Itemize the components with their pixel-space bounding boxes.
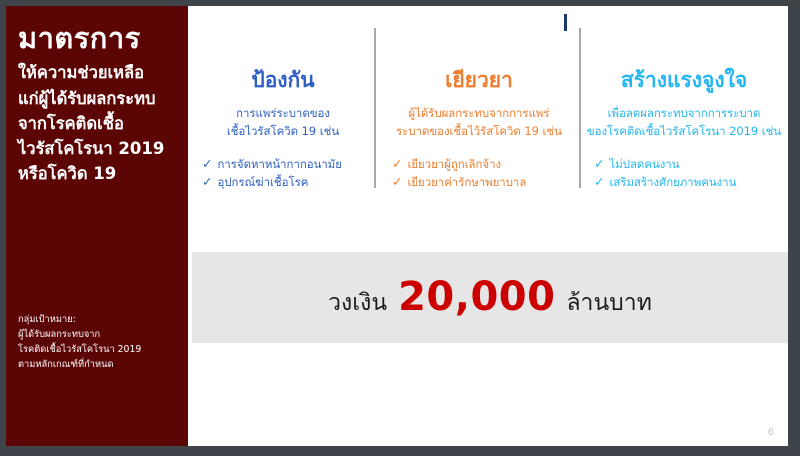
measures-columns: ป้องกัน การแพร่ระบาดของ เชื้อไวรัสโควิด … [188,58,788,253]
check-icon: ✓ [392,173,402,191]
budget-label: วงเงิน [328,285,387,321]
slide-main-title: มาตรการ [18,22,178,54]
list-item: ✓ เสริมสร้างศักยภาพคนงาน [594,173,782,191]
list-item: ✓ เยียวยาค่ารักษาพยาบาล [392,173,574,191]
subtitle-line: หรือโควิด 19 [18,161,178,186]
description-line: เชื้อไวรัสโควิด 19 เช่น [194,123,372,141]
target-group-label: กลุ่มเป้าหมาย: [18,312,141,327]
check-icon: ✓ [202,173,212,191]
description-line: ของโรคติดเชื้อไวรัสโคโรนา 2019 เช่น [586,123,782,141]
target-group-block: กลุ่มเป้าหมาย: ผู้ได้รับผลกระทบจาก โรคติ… [18,312,141,372]
subtitle-line: แก่ผู้ได้รับผลกระทบ [18,86,178,111]
budget-unit: ล้านบาท [566,285,651,321]
column-heading: ป้องกัน [194,68,372,93]
column-bullet-list: ✓ เยียวยาผู้ถูกเลิกจ้าง ✓ เยียวยาค่ารักษ… [384,155,574,192]
bullet-label: เสริมสร้างศักยภาพคนงาน [609,173,736,191]
budget-banner: วงเงิน 20,000 ล้านบาท [192,252,788,343]
column-bullet-list: ✓ ไม่ปลดคนงาน ✓ เสริมสร้างศักยภาพคนงาน [586,155,782,192]
measure-column-remedy: เยียวยา ผู้ได้รับผลกระทบจากการแพร่ ระบาด… [378,58,580,191]
target-group-line: ตามหลักเกณฑ์ที่กำหนด [18,357,141,372]
bullet-label: การจัดหาหน้ากากอนามัย [217,155,341,173]
text-cursor-mark [564,14,567,31]
list-item: ✓ ไม่ปลดคนงาน [594,155,782,173]
budget-amount: 20,000 [398,274,555,320]
subtitle-line: จากโรคติดเชื้อ [18,111,178,136]
column-heading: สร้างแรงจูงใจ [586,68,782,93]
sidebar-panel: มาตรการ ให้ความช่วยเหลือ แก่ผู้ได้รับผลก… [6,6,188,446]
description-line: ผู้ได้รับผลกระทบจากการแพร่ [384,105,574,123]
page-number: 6 [768,427,774,438]
measure-column-prevent: ป้องกัน การแพร่ระบาดของ เชื้อไวรัสโควิด … [188,58,378,191]
check-icon: ✓ [594,173,604,191]
list-item: ✓ อุปกรณ์ฆ่าเชื้อโรค [202,173,372,191]
budget-line: วงเงิน 20,000 ล้านบาท [328,274,652,321]
description-line: การแพร่ระบาดของ [194,105,372,123]
check-icon: ✓ [202,155,212,173]
slide-subtitle: ให้ความช่วยเหลือ แก่ผู้ได้รับผลกระทบ จาก… [18,60,178,185]
measure-column-incentive: สร้างแรงจูงใจ เพื่อลดผลกระทบจากการระบาด … [580,58,788,191]
subtitle-line: ให้ความช่วยเหลือ [18,60,178,85]
bullet-label: เยียวยาค่ารักษาพยาบาล [407,173,526,191]
subtitle-line: ไวรัสโคโรนา 2019 [18,136,178,161]
check-icon: ✓ [392,155,402,173]
column-description: ผู้ได้รับผลกระทบจากการแพร่ ระบาดของเชื้อ… [384,105,574,140]
check-icon: ✓ [594,155,604,173]
description-line: ระบาดของเชื้อไว้รัสโควิด 19 เช่น [384,123,574,141]
list-item: ✓ การจัดหาหน้ากากอนามัย [202,155,372,173]
slide-window-frame: มาตรการ ให้ความช่วยเหลือ แก่ผู้ได้รับผลก… [0,0,800,456]
column-bullet-list: ✓ การจัดหาหน้ากากอนามัย ✓ อุปกรณ์ฆ่าเชื้… [194,155,372,192]
column-description: เพื่อลดผลกระทบจากการระบาด ของโรคติดเชื้อ… [586,105,782,140]
bullet-label: อุปกรณ์ฆ่าเชื้อโรค [217,173,308,191]
bullet-label: ไม่ปลดคนงาน [609,155,679,173]
column-heading: เยียวยา [384,68,574,93]
bullet-label: เยียวยาผู้ถูกเลิกจ้าง [407,155,501,173]
slide-canvas: มาตรการ ให้ความช่วยเหลือ แก่ผู้ได้รับผลก… [6,6,788,446]
target-group-line: โรคติดเชื้อไวรัสโคโรนา 2019 [18,342,141,357]
description-line: เพื่อลดผลกระทบจากการระบาด [586,105,782,123]
target-group-line: ผู้ได้รับผลกระทบจาก [18,327,141,342]
column-description: การแพร่ระบาดของ เชื้อไวรัสโควิด 19 เช่น [194,105,372,140]
list-item: ✓ เยียวยาผู้ถูกเลิกจ้าง [392,155,574,173]
